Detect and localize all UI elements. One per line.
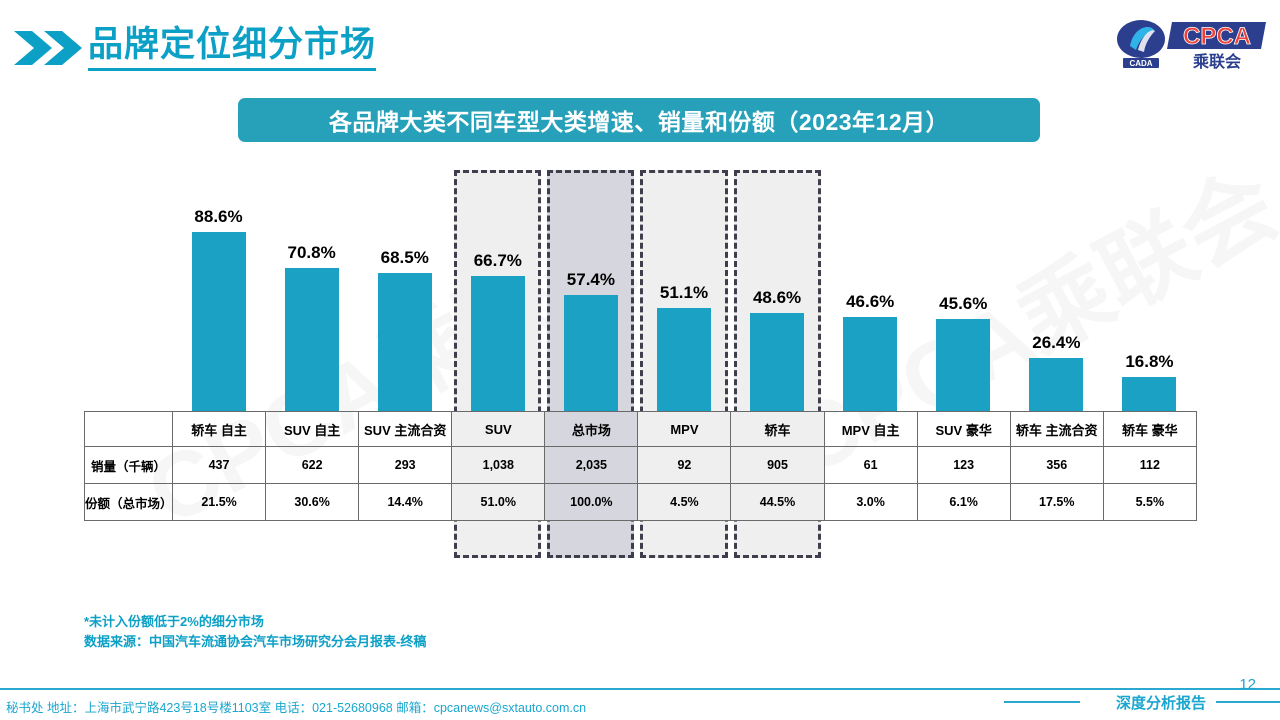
table-header-row: 轿车 自主SUV 自主SUV 主流合资SUV总市场MPV轿车MPV 自主SUV … xyxy=(85,412,1197,447)
data-table: 轿车 自主SUV 自主SUV 主流合资SUV总市场MPV轿车MPV 自主SUV … xyxy=(84,411,1197,521)
bar xyxy=(936,319,990,411)
svg-text:乘联会: 乘联会 xyxy=(1192,52,1241,71)
chart-title-banner: 各品牌大类不同车型大类增速、销量和份额（2023年12月） xyxy=(238,98,1040,142)
table-column-header: SUV xyxy=(452,412,545,447)
table-cell: 92 xyxy=(638,447,731,484)
table-row-header: 销量（千辆） xyxy=(85,447,173,484)
bar-value-label: 45.6% xyxy=(903,294,1023,314)
footnote-line-1: *未计入份额低于2%的细分市场 xyxy=(84,612,426,632)
footer-brand: 深度分析报告 xyxy=(1116,692,1206,713)
table-cell: 1,038 xyxy=(452,447,545,484)
cpca-logo: CADA CPCA 乘联会 xyxy=(1114,16,1266,74)
table-column-header: MPV xyxy=(638,412,731,447)
bar xyxy=(471,276,525,411)
bar-value-label: 16.8% xyxy=(1089,352,1209,372)
table-column-header: SUV 豪华 xyxy=(917,412,1010,447)
bar xyxy=(1122,377,1176,411)
footer-divider xyxy=(0,688,1280,690)
table-column-header: 轿车 xyxy=(731,412,824,447)
footer-rule-left xyxy=(1004,701,1080,703)
page-title: 品牌定位细分市场 xyxy=(88,23,376,71)
table-cell: 356 xyxy=(1010,447,1103,484)
table-cell: 17.5% xyxy=(1010,484,1103,521)
table-cell: 437 xyxy=(173,447,266,484)
table-column-header: 轿车 豪华 xyxy=(1103,412,1196,447)
table-row-header: 份额（总市场） xyxy=(85,484,173,521)
bar xyxy=(564,295,618,411)
table-column-header: 轿车 自主 xyxy=(173,412,266,447)
double-chevron-right-icon xyxy=(14,31,86,65)
bar-value-label: 26.4% xyxy=(996,333,1116,353)
table-cell: 5.5% xyxy=(1103,484,1196,521)
table-column-header: MPV 自主 xyxy=(824,412,917,447)
table-column-header: SUV 自主 xyxy=(266,412,359,447)
page-number: 12 xyxy=(1239,676,1256,693)
table-cell: 30.6% xyxy=(266,484,359,521)
footnote-line-2: 数据来源：中国汽车流通协会汽车市场研究分会月报表-终稿 xyxy=(84,632,426,652)
footer-contact: 秘书处 地址：上海市武宁路423号18号楼1103室 电话：021-526809… xyxy=(6,697,586,716)
bar xyxy=(657,308,711,411)
table-cell: 61 xyxy=(824,447,917,484)
bar-value-label: 88.6% xyxy=(159,207,279,227)
table-cell: 2,035 xyxy=(545,447,638,484)
table-column-header: 总市场 xyxy=(545,412,638,447)
table-cell: 100.0% xyxy=(545,484,638,521)
table-cell: 21.5% xyxy=(173,484,266,521)
table-cell: 51.0% xyxy=(452,484,545,521)
page-header: 品牌定位细分市场 CADA CPCA 乘联会 xyxy=(0,0,1280,88)
bar-value-label: 66.7% xyxy=(438,251,558,271)
bar xyxy=(843,317,897,411)
bar xyxy=(378,273,432,411)
bar xyxy=(192,232,246,411)
table-cell: 293 xyxy=(359,447,452,484)
bar xyxy=(750,313,804,411)
table-cell: 112 xyxy=(1103,447,1196,484)
table-cell: 14.4% xyxy=(359,484,452,521)
bar xyxy=(285,268,339,411)
table-row-sales: 销量（千辆）4376222931,0382,035929056112335611… xyxy=(85,447,1197,484)
table-cell: 905 xyxy=(731,447,824,484)
table-cell: 3.0% xyxy=(824,484,917,521)
table-cell: 6.1% xyxy=(917,484,1010,521)
bar xyxy=(1029,358,1083,411)
table-column-header: SUV 主流合资 xyxy=(359,412,452,447)
svg-text:CADA: CADA xyxy=(1129,59,1152,68)
footnotes: *未计入份额低于2%的细分市场 数据来源：中国汽车流通协会汽车市场研究分会月报表… xyxy=(84,612,426,652)
table-cell: 44.5% xyxy=(731,484,824,521)
table-row-share: 份额（总市场）21.5%30.6%14.4%51.0%100.0%4.5%44.… xyxy=(85,484,1197,521)
table-corner-cell xyxy=(85,412,173,447)
table-cell: 4.5% xyxy=(638,484,731,521)
table-column-header: 轿车 主流合资 xyxy=(1010,412,1103,447)
footer-rule-right xyxy=(1216,701,1280,703)
table-cell: 123 xyxy=(917,447,1010,484)
svg-text:CPCA: CPCA xyxy=(1183,23,1251,50)
table-cell: 622 xyxy=(266,447,359,484)
